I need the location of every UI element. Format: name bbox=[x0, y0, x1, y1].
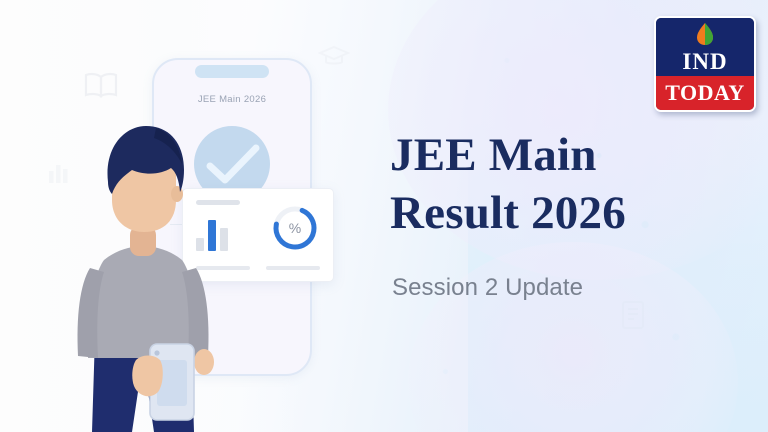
card-footer-line-2 bbox=[266, 266, 320, 270]
document-icon bbox=[620, 300, 646, 330]
jee-result-banner: JEE Main 2026 % bbox=[0, 0, 768, 432]
headline-line-1: JEE Main bbox=[390, 126, 740, 184]
student-illustration bbox=[58, 108, 228, 432]
book-icon bbox=[84, 72, 118, 98]
donut-percent-label: % bbox=[271, 204, 319, 252]
phone-notch bbox=[195, 65, 269, 78]
logo-bottom-panel: TODAY bbox=[656, 76, 754, 110]
ind-today-logo[interactable]: IND TODAY bbox=[654, 16, 756, 112]
flame-leaf-icon bbox=[695, 22, 715, 46]
headline-block: JEE Main Result 2026 bbox=[390, 126, 740, 243]
headline-line-2: Result 2026 bbox=[390, 184, 740, 242]
graduation-cap-icon bbox=[318, 44, 350, 68]
logo-today-text: TODAY bbox=[665, 80, 745, 106]
logo-top-panel: IND bbox=[656, 18, 754, 76]
subtitle: Session 2 Update bbox=[392, 274, 583, 302]
logo-ind-text: IND bbox=[656, 49, 754, 75]
phone-screen-title: JEE Main 2026 bbox=[152, 94, 312, 105]
